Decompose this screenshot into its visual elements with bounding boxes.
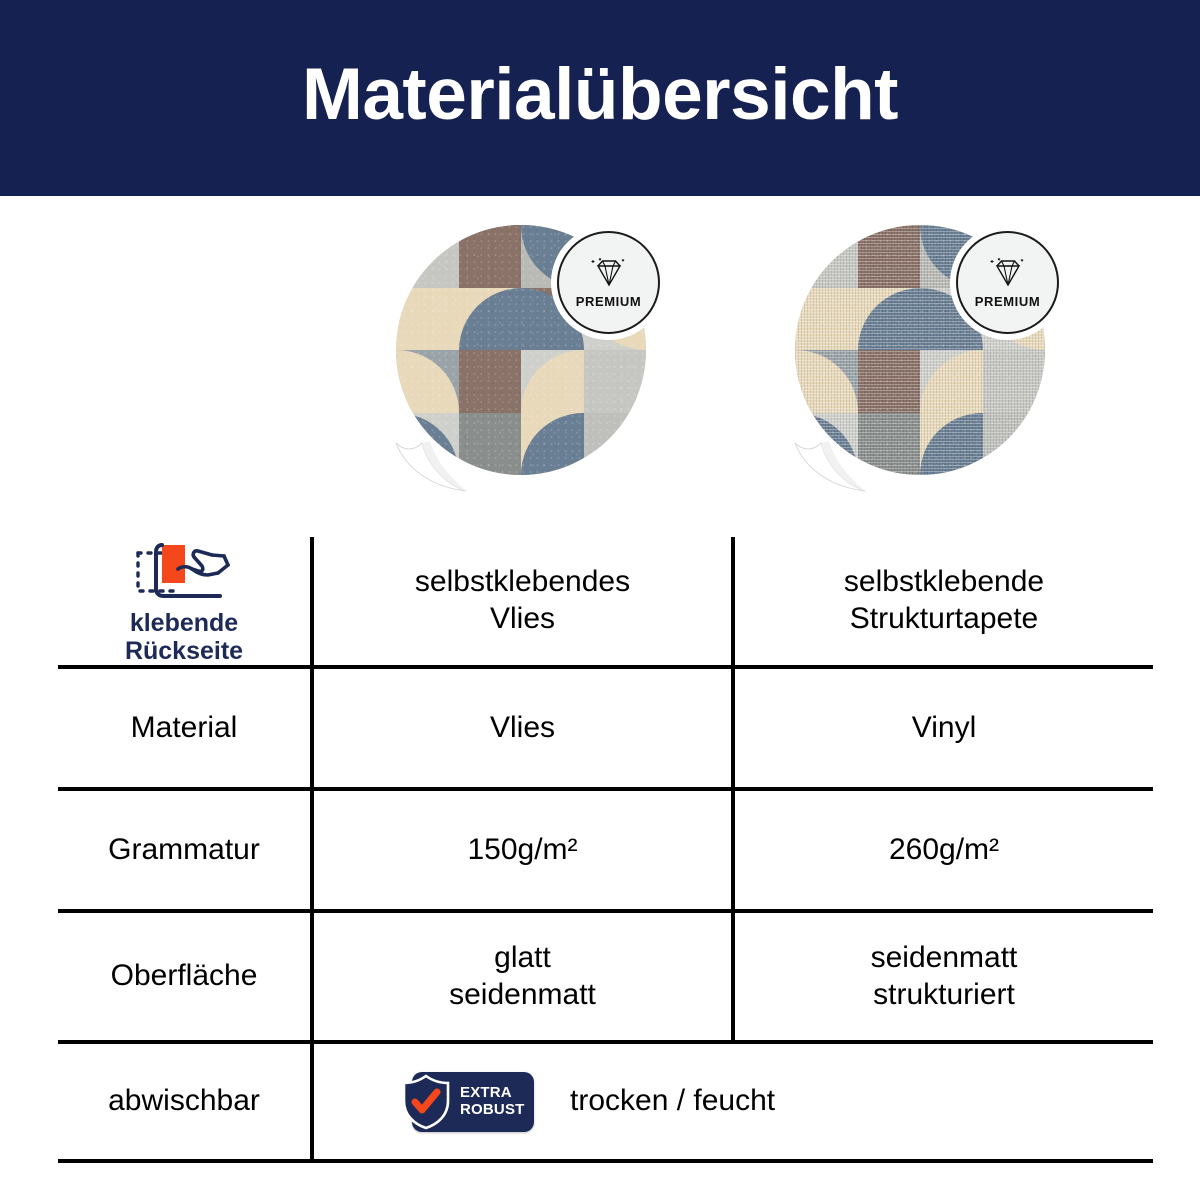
shield-check-icon [398, 1073, 454, 1131]
row-label-oberflaeche: Oberfläche [58, 911, 312, 1042]
adhesive-label-line2: Rückseite [125, 637, 243, 665]
abwischbar-value: trocken / feucht [570, 1083, 775, 1120]
premium-badge-label: PREMIUM [576, 294, 642, 309]
header-cell-vlies: selbstklebendes Vlies [312, 537, 733, 667]
adhesive-label-line1: klebende [130, 609, 238, 637]
extra-robust-line2: ROBUST [460, 1101, 525, 1118]
product-preview-strukturtapete[interactable]: PREMIUM [795, 225, 1045, 475]
row-label-grammatur: Grammatur [58, 789, 312, 911]
table-row: Material Vlies Vinyl [58, 667, 1153, 789]
material-spec-table: klebende Rückseite selbstklebendes Vlies… [58, 537, 1145, 1163]
page-title: Materialübersicht [302, 58, 898, 131]
page-header: Materialübersicht [0, 0, 1200, 196]
table-row: abwischbar EXTRA ROBUST trocken / feucht [58, 1042, 1153, 1161]
table-row: Grammatur 150g/m² 260g/m² [58, 789, 1153, 911]
diamond-icon [589, 257, 629, 291]
premium-badge: PREMIUM [956, 231, 1059, 334]
row-value-grammatur-vlies: 150g/m² [312, 789, 733, 911]
row-label-material: Material [58, 667, 312, 789]
diamond-icon [988, 257, 1028, 291]
row-value-material-struktur: Vinyl [733, 667, 1153, 789]
row-value-oberflaeche-struktur: seidenmatt strukturiert [733, 911, 1153, 1042]
row-value-material-vlies: Vlies [312, 667, 733, 789]
table-bottom-border [58, 1161, 1153, 1163]
adhesive-backing-cell: klebende Rückseite [58, 537, 312, 667]
table-row-header: klebende Rückseite selbstklebendes Vlies… [58, 537, 1153, 667]
row-value-oberflaeche-vlies: glatt seidenmatt [312, 911, 733, 1042]
table-row: Oberfläche glatt seidenmatt seidenmatt s… [58, 911, 1153, 1042]
header-cell-strukturtapete: selbstklebende Strukturtapete [733, 537, 1153, 667]
header-vlies-line1: selbstklebendes [415, 565, 630, 598]
header-vlies-line2: Vlies [490, 602, 555, 635]
product-previews: PREMIUM [0, 196, 1200, 541]
peeling-sheet-hand-icon [132, 539, 236, 603]
header-struktur-line1: selbstklebende [844, 565, 1044, 598]
extra-robust-badge: EXTRA ROBUST [412, 1072, 534, 1132]
product-preview-vlies[interactable]: PREMIUM [396, 225, 646, 475]
row-label-abwischbar: abwischbar [58, 1042, 312, 1161]
header-struktur-line2: Strukturtapete [850, 602, 1038, 635]
row-value-abwischbar: EXTRA ROBUST trocken / feucht [312, 1042, 1153, 1161]
row-value-grammatur-struktur: 260g/m² [733, 789, 1153, 911]
extra-robust-line1: EXTRA [460, 1084, 512, 1101]
premium-badge: PREMIUM [557, 231, 660, 334]
premium-badge-label: PREMIUM [975, 294, 1041, 309]
